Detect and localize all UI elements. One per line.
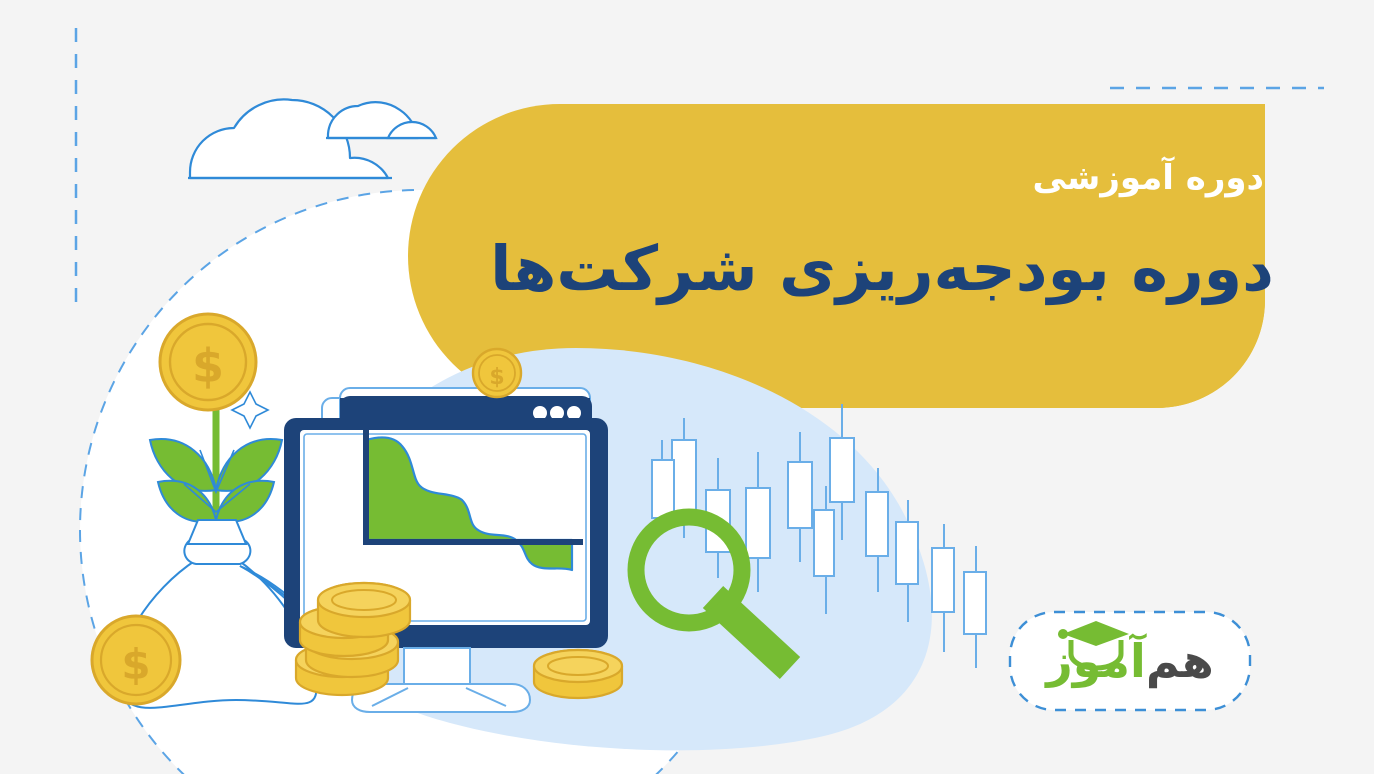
window-dot-1 <box>533 406 547 420</box>
window-dot-2 <box>550 406 564 420</box>
svg-text:$: $ <box>192 339 224 393</box>
plant-coin: $ <box>160 314 256 410</box>
illustration-artboard: $ $ <box>0 0 1374 774</box>
coin-bottom <box>534 650 622 698</box>
window-dot-3 <box>567 406 581 420</box>
cloud-small <box>326 102 436 138</box>
banner-canvas: $ $ <box>0 0 1374 774</box>
coin-top: $ <box>473 349 521 397</box>
svg-text:$: $ <box>121 640 150 689</box>
coin-stack-item-1 <box>318 583 410 637</box>
svg-text:$: $ <box>489 365 504 390</box>
logo-badge[interactable] <box>1010 612 1250 710</box>
coin-left: $ <box>92 616 180 704</box>
